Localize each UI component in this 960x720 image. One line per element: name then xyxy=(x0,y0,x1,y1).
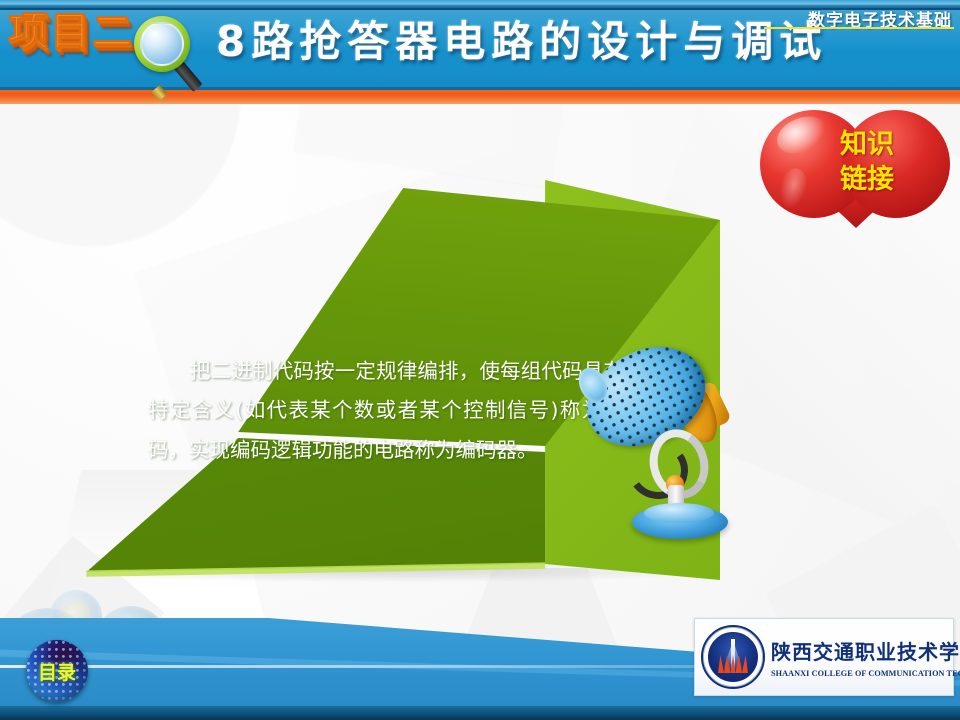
college-logo-text: 陕西交通职业技术学院 SHAANXI COLLEGE OF COMMUNICAT… xyxy=(771,636,960,678)
college-name-cn: 陕西交通职业技术学院 xyxy=(771,636,960,665)
slide-header: 项目二 8路抢答器电路的设计与调试 数字电子技术基础 xyxy=(0,0,960,104)
footer-dark-strip xyxy=(0,706,960,720)
magnifier-lens xyxy=(140,22,184,66)
microphone-base-top xyxy=(644,503,714,523)
project-badge: 项目二 xyxy=(8,12,134,52)
table-of-contents-button[interactable]: 目录 xyxy=(26,640,88,702)
table-of-contents-label: 目录 xyxy=(26,640,88,702)
slide-root: 把二进制代码按一定规律编排，使每组代码具有特定含义(如代表某个数或者某个控制信号… xyxy=(0,0,960,720)
seal-outer-ring xyxy=(703,627,763,687)
knowledge-link-badge[interactable]: 知识 链接 xyxy=(758,110,954,228)
college-name-en: SHAANXI COLLEGE OF COMMUNICATION TECHNOL… xyxy=(771,669,960,678)
college-seal-icon xyxy=(701,625,765,689)
body-paragraph: 把二进制代码按一定规律编排，使每组代码具有特定含义(如代表某个数或者某个控制信号… xyxy=(148,352,624,470)
course-label-underline xyxy=(764,27,954,29)
page-title: 8路抢答器电路的设计与调试 xyxy=(216,18,827,66)
magnifier-icon xyxy=(128,14,208,94)
badge-text: 知识 链接 xyxy=(812,128,922,197)
badge-text-line1: 知识 xyxy=(812,128,922,163)
badge-text-line2: 链接 xyxy=(812,163,922,198)
microphone-icon xyxy=(580,345,740,545)
college-logo: 陕西交通职业技术学院 SHAANXI COLLEGE OF COMMUNICAT… xyxy=(694,618,954,696)
